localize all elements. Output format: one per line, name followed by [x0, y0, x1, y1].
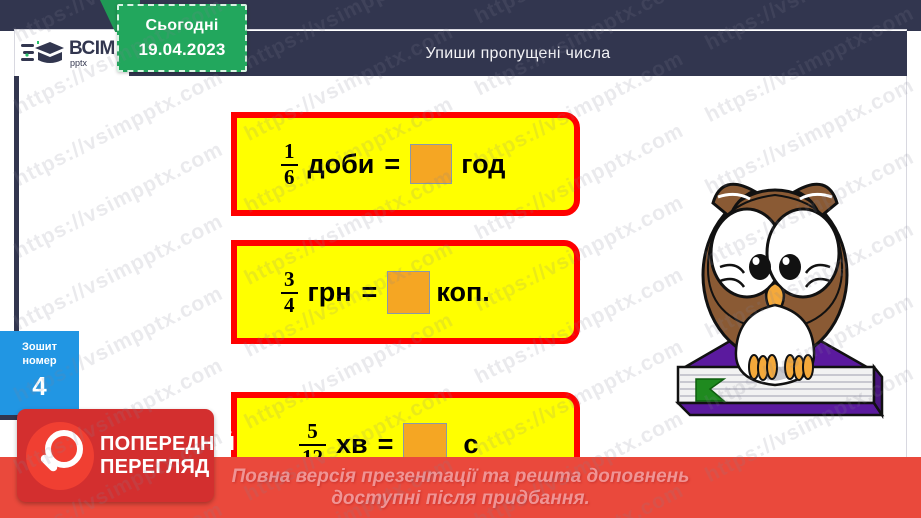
answer-input-1[interactable] — [410, 144, 452, 184]
unit-from-3: хв — [336, 429, 368, 460]
brand-logo[interactable]: ВСІМ pptx — [15, 31, 129, 76]
preview-line-1: ПОПЕРЕДНІЙ — [100, 433, 235, 456]
preview-badge[interactable]: ПОПЕРЕДНІЙ ПЕРЕГЛЯД — [17, 409, 214, 502]
fraction-numerator: 3 — [281, 268, 298, 290]
equals-sign-2: = — [362, 277, 378, 308]
preview-badge-text: ПОПЕРЕДНІЙ ПЕРЕГЛЯД — [100, 433, 235, 479]
fraction-2: 3 4 — [281, 268, 298, 315]
preview-line-2: ПЕРЕГЛЯД — [100, 456, 235, 479]
unit-to-3: с — [463, 429, 478, 460]
fraction-numerator: 5 — [304, 420, 321, 442]
notebook-number: 4 — [0, 371, 79, 402]
equals-sign-1: = — [384, 149, 400, 180]
notebook-label-line1: Зошит — [0, 340, 79, 354]
equals-sign-3: = — [378, 429, 394, 460]
bottom-left-spacer — [0, 420, 17, 458]
answer-input-2[interactable] — [387, 271, 430, 314]
fraction-denominator: 6 — [281, 164, 298, 188]
fraction-numerator: 1 — [281, 140, 298, 162]
unit-from-1: доби — [308, 149, 375, 180]
page-title: Упиши пропущені числа — [426, 45, 611, 63]
notebook-number-badge: Зошит номер 4 — [0, 331, 79, 415]
task-box-1: 1 6 доби = год — [231, 112, 580, 216]
unit-to-1: год — [461, 149, 505, 180]
logo-wordmark: ВСІМ pptx — [69, 39, 115, 68]
notebook-label-line2: номер — [0, 354, 79, 368]
task-box-2: 3 4 грн = коп. — [231, 240, 580, 344]
logo-main-text: ВСІМ — [69, 39, 115, 58]
fraction-1: 1 6 — [281, 140, 298, 187]
date-badge: Сьогодні 19.04.2023 — [117, 4, 247, 72]
date-today-label: Сьогодні — [145, 17, 218, 35]
graduation-cap-icon — [21, 39, 65, 69]
unit-from-2: грн — [308, 277, 352, 308]
equation-1: 1 6 доби = год — [281, 140, 505, 187]
logo-sub-text: pptx — [70, 59, 115, 68]
presentation-slide: Упиши пропущені числа ВСІМ pptx Сьогодні… — [0, 0, 921, 518]
promo-line-2: доступні після придбання. — [331, 488, 590, 510]
magnifier-icon — [26, 422, 94, 490]
fraction-denominator: 4 — [281, 292, 298, 316]
date-value: 19.04.2023 — [138, 40, 225, 60]
promo-line-1: Повна версія презентації та решта доповн… — [232, 466, 690, 488]
equation-2: 3 4 грн = коп. — [281, 268, 490, 315]
unit-to-2: коп. — [436, 277, 489, 308]
owl-on-book-illustration — [650, 155, 900, 430]
